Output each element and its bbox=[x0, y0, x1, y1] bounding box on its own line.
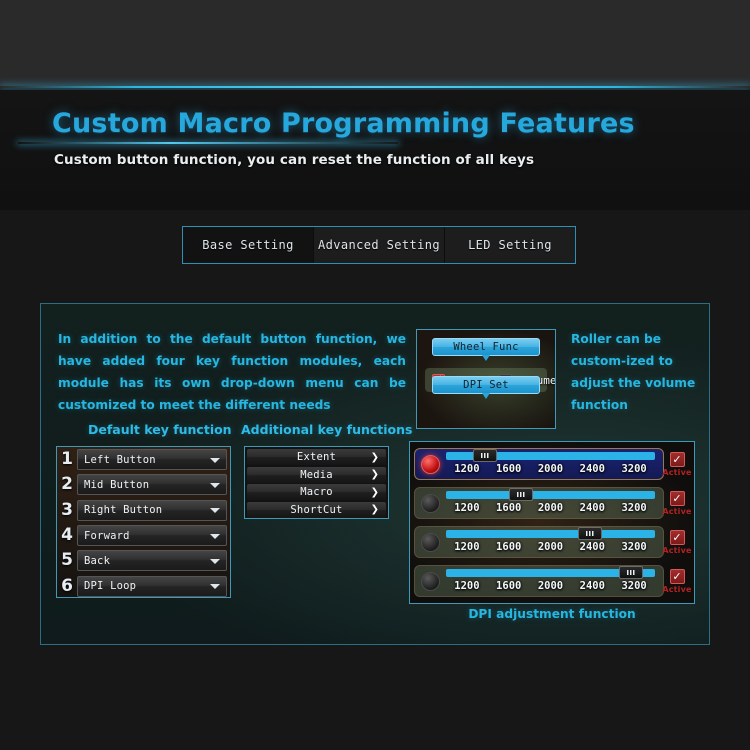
page-title: Custom Macro Programming Features bbox=[52, 108, 635, 139]
additional-key-label: Media bbox=[300, 469, 333, 481]
dpi-slider[interactable]: 1200 1600 2000 2400 3200 bbox=[446, 566, 655, 596]
dpi-tick: 3200 bbox=[613, 463, 655, 477]
dpi-tick-labels: 1200 1600 2000 2400 3200 bbox=[446, 580, 655, 594]
active-label: Active bbox=[662, 507, 691, 516]
key-dropdown-value: Right Button bbox=[78, 504, 162, 516]
chevron-down-icon bbox=[210, 458, 220, 463]
dpi-slider-thumb[interactable] bbox=[578, 527, 602, 540]
key-dropdown-value: DPI Loop bbox=[78, 580, 136, 592]
dpi-tick: 3200 bbox=[613, 502, 655, 516]
dpi-tick: 3200 bbox=[613, 541, 655, 555]
default-key-row[interactable]: 6 DPI Loop bbox=[57, 573, 230, 598]
dpi-tick-labels: 1200 1600 2000 2400 3200 bbox=[446, 541, 655, 555]
tab-led-setting[interactable]: LED Setting bbox=[445, 227, 575, 263]
dpi-tick: 2400 bbox=[571, 580, 613, 594]
dpi-row-body: 1200 1600 2000 2400 3200 bbox=[414, 526, 664, 558]
key-dropdown[interactable]: Back bbox=[77, 550, 227, 571]
tab-advanced-setting[interactable]: Advanced Setting bbox=[314, 227, 445, 263]
key-index: 2 bbox=[57, 476, 77, 493]
additional-key-list: Extent ❯ Media ❯ Macro ❯ ShortCut ❯ bbox=[244, 446, 389, 519]
dpi-tick: 2000 bbox=[530, 580, 572, 594]
dpi-led-indicator bbox=[421, 572, 440, 591]
default-key-list: 1 Left Button 2 Mid Button 3 Right Butto… bbox=[56, 446, 231, 598]
active-checkbox[interactable]: ✓ bbox=[670, 530, 685, 545]
dpi-tick: 1200 bbox=[446, 463, 488, 477]
additional-key-media[interactable]: Media ❯ bbox=[247, 467, 386, 483]
default-key-row[interactable]: 5 Back bbox=[57, 548, 230, 573]
dpi-row-body: 1200 1600 2000 2400 3200 bbox=[414, 487, 664, 519]
chevron-right-icon: ❯ bbox=[371, 488, 379, 497]
tab-bar: Base Setting Advanced Setting LED Settin… bbox=[182, 226, 576, 264]
dpi-active-toggle[interactable]: ✓ Active bbox=[664, 569, 690, 594]
dpi-set-label: DPI Set bbox=[463, 379, 509, 391]
dpi-tick: 2000 bbox=[530, 502, 572, 516]
wheel-func-button[interactable]: Wheel Func bbox=[432, 338, 540, 356]
chevron-down-icon bbox=[210, 483, 220, 488]
chevron-down-icon bbox=[210, 534, 220, 539]
dpi-led-indicator bbox=[421, 455, 440, 474]
active-checkbox[interactable]: ✓ bbox=[670, 569, 685, 584]
active-label: Active bbox=[662, 468, 691, 477]
additional-key-macro[interactable]: Macro ❯ bbox=[247, 484, 386, 500]
chevron-down-icon bbox=[210, 508, 220, 513]
dpi-active-toggle[interactable]: ✓ Active bbox=[664, 452, 690, 477]
page-subtitle: Custom button function, you can reset th… bbox=[54, 152, 534, 168]
dpi-tick: 2400 bbox=[571, 541, 613, 555]
dpi-slider-track bbox=[446, 491, 655, 499]
wheel-function-panel: Wheel Func ✓ Scroll volume DPI Set bbox=[416, 329, 556, 429]
key-dropdown-value: Left Button bbox=[78, 454, 156, 466]
key-dropdown-value: Mid Button bbox=[78, 479, 149, 491]
active-checkbox[interactable]: ✓ bbox=[670, 452, 685, 467]
key-index: 6 bbox=[57, 578, 77, 595]
key-index: 1 bbox=[57, 451, 77, 468]
dpi-set-button[interactable]: DPI Set bbox=[432, 376, 540, 394]
dpi-slider-thumb[interactable] bbox=[473, 449, 497, 462]
default-key-function-heading: Default key function bbox=[88, 422, 232, 437]
dpi-tick: 1200 bbox=[446, 502, 488, 516]
key-index: 5 bbox=[57, 552, 77, 569]
dpi-active-toggle[interactable]: ✓ Active bbox=[664, 530, 690, 555]
dpi-led-indicator bbox=[421, 533, 440, 552]
dpi-row[interactable]: 1200 1600 2000 2400 3200 ✓ Active bbox=[414, 486, 690, 520]
dpi-row-body: 1200 1600 2000 2400 3200 bbox=[414, 565, 664, 597]
active-label: Active bbox=[662, 585, 691, 594]
dpi-led-indicator bbox=[421, 494, 440, 513]
key-dropdown-value: Back bbox=[78, 555, 110, 567]
dpi-slider-thumb[interactable] bbox=[619, 566, 643, 579]
key-dropdown[interactable]: Mid Button bbox=[77, 474, 227, 495]
dpi-tick: 2000 bbox=[530, 463, 572, 477]
dpi-slider[interactable]: 1200 1600 2000 2400 3200 bbox=[446, 488, 655, 518]
default-key-row[interactable]: 4 Forward bbox=[57, 523, 230, 548]
dpi-caption: DPI adjustment function bbox=[409, 607, 695, 621]
dpi-row[interactable]: 1200 1600 2000 2400 3200 ✓ Active bbox=[414, 447, 690, 481]
active-label: Active bbox=[662, 546, 691, 555]
dpi-slider[interactable]: 1200 1600 2000 2400 3200 bbox=[446, 527, 655, 557]
chevron-right-icon: ❯ bbox=[371, 505, 379, 514]
key-dropdown[interactable]: Left Button bbox=[77, 449, 227, 470]
dpi-tick: 1200 bbox=[446, 580, 488, 594]
key-dropdown[interactable]: Right Button bbox=[77, 500, 227, 521]
dpi-tick-labels: 1200 1600 2000 2400 3200 bbox=[446, 463, 655, 477]
dpi-tick: 2000 bbox=[530, 541, 572, 555]
default-key-row[interactable]: 1 Left Button bbox=[57, 447, 230, 472]
additional-key-label: Extent bbox=[297, 451, 336, 463]
dpi-row[interactable]: 1200 1600 2000 2400 3200 ✓ Active bbox=[414, 564, 690, 598]
dpi-active-toggle[interactable]: ✓ Active bbox=[664, 491, 690, 516]
dpi-tick: 2400 bbox=[571, 463, 613, 477]
dpi-tick: 1600 bbox=[488, 541, 530, 555]
dpi-slider-thumb[interactable] bbox=[509, 488, 533, 501]
additional-key-extent[interactable]: Extent ❯ bbox=[247, 449, 386, 465]
roller-note: Roller can be custom-ized to adjust the … bbox=[571, 328, 711, 416]
chevron-down-icon bbox=[210, 559, 220, 564]
chevron-down-icon bbox=[210, 584, 220, 589]
additional-key-label: ShortCut bbox=[290, 504, 342, 516]
dpi-tick: 1600 bbox=[488, 463, 530, 477]
intro-paragraph: In addition to the default button functi… bbox=[58, 328, 406, 416]
dpi-tick-labels: 1200 1600 2000 2400 3200 bbox=[446, 502, 655, 516]
top-bar bbox=[0, 0, 750, 88]
default-key-row[interactable]: 2 Mid Button bbox=[57, 472, 230, 497]
key-index: 4 bbox=[57, 527, 77, 544]
dpi-slider-track bbox=[446, 530, 655, 538]
key-dropdown[interactable]: Forward bbox=[77, 525, 227, 546]
additional-key-label: Macro bbox=[300, 486, 333, 498]
additional-key-shortcut[interactable]: ShortCut ❯ bbox=[247, 502, 386, 518]
active-checkbox[interactable]: ✓ bbox=[670, 491, 685, 506]
dpi-tick: 3200 bbox=[613, 580, 655, 594]
wheel-func-label: Wheel Func bbox=[453, 341, 518, 353]
key-dropdown-value: Forward bbox=[78, 530, 130, 542]
dpi-tick: 1600 bbox=[488, 502, 530, 516]
dpi-tick: 2400 bbox=[571, 502, 613, 516]
settings-panel: In addition to the default button functi… bbox=[40, 303, 710, 645]
key-index: 3 bbox=[57, 502, 77, 519]
additional-key-functions-heading: Additional key functions bbox=[241, 422, 412, 437]
default-key-row[interactable]: 3 Right Button bbox=[57, 498, 230, 523]
dpi-slider[interactable]: 1200 1600 2000 2400 3200 bbox=[446, 449, 655, 479]
tab-base-setting[interactable]: Base Setting bbox=[183, 227, 314, 263]
dpi-tick: 1200 bbox=[446, 541, 488, 555]
key-dropdown[interactable]: DPI Loop bbox=[77, 576, 227, 597]
dpi-tick: 1600 bbox=[488, 580, 530, 594]
dpi-row[interactable]: 1200 1600 2000 2400 3200 ✓ Active bbox=[414, 525, 690, 559]
title-glow-line bbox=[18, 142, 398, 144]
chevron-right-icon: ❯ bbox=[371, 453, 379, 462]
dpi-adjustment-panel: 1200 1600 2000 2400 3200 ✓ Active bbox=[409, 441, 695, 604]
chevron-right-icon: ❯ bbox=[371, 470, 379, 479]
dpi-row-body: 1200 1600 2000 2400 3200 bbox=[414, 448, 664, 480]
